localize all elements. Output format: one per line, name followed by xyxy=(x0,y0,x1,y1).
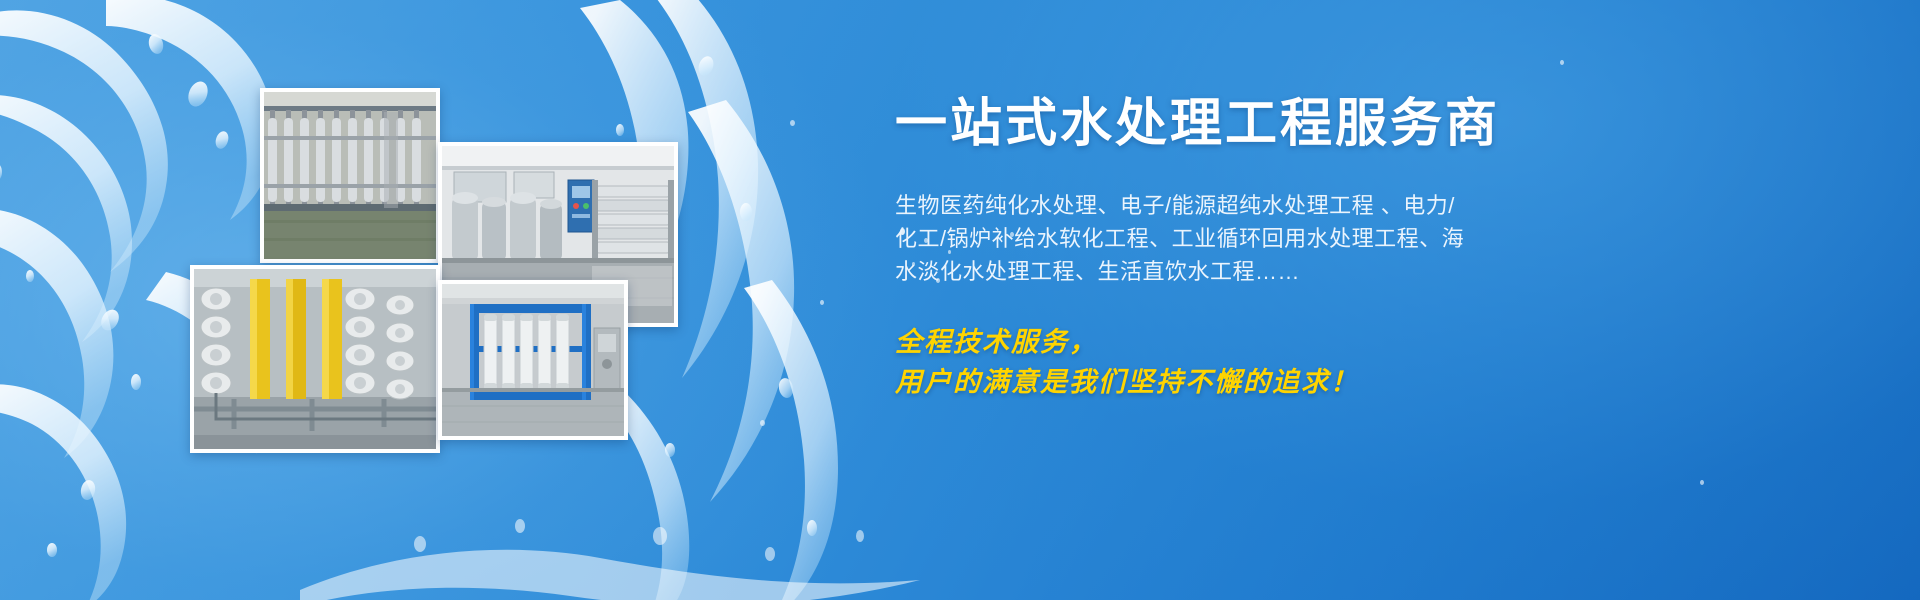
description-line-1: 生物医药纯化水处理、电子/能源超纯水处理工程 、电力/ xyxy=(895,189,1495,222)
photo-yellow-pressure-vessels xyxy=(190,265,440,453)
description-line-2: 化工/锅炉补给水软化工程、工业循环回用水处理工程、海 xyxy=(895,222,1495,255)
tagline-line-1: 全程技术服务， xyxy=(895,322,1795,362)
banner-text-content: 一站式水处理工程服务商 生物医药纯化水处理、电子/能源超纯水处理工程 、电力/ … xyxy=(895,95,1795,402)
tagline-line-2: 用户的满意是我们坚持不懈的追求！ xyxy=(895,362,1795,402)
description-line-3: 水淡化水处理工程、生活直饮水工程…… xyxy=(895,255,1495,288)
banner-description: 生物医药纯化水处理、电子/能源超纯水处理工程 、电力/ 化工/锅炉补给水软化工程… xyxy=(895,189,1495,288)
photo-ultrafiltration-membrane-skid xyxy=(260,88,440,263)
photo-collage xyxy=(190,80,690,455)
water-splash-bottom xyxy=(300,440,920,600)
banner-tagline: 全程技术服务， 用户的满意是我们坚持不懈的追求！ xyxy=(895,322,1795,402)
photo-blue-frame-uf-unit xyxy=(438,280,628,440)
promotional-banner: 一站式水处理工程服务商 生物医药纯化水处理、电子/能源超纯水处理工程 、电力/ … xyxy=(0,0,1920,600)
banner-headline: 一站式水处理工程服务商 xyxy=(895,95,1795,155)
